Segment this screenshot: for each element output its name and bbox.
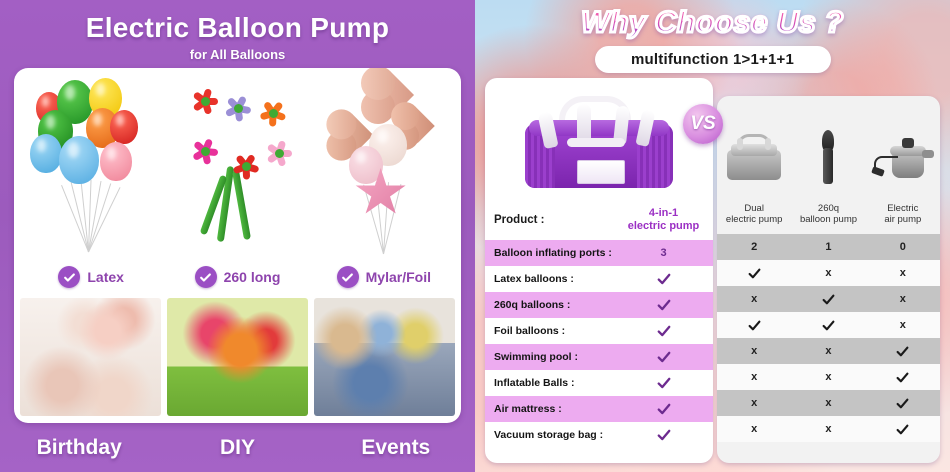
- balloon-pink: [100, 142, 132, 181]
- table-row: Balloon inflating ports : 3: [485, 240, 713, 266]
- rival-image-260q-hand-pump: [797, 126, 859, 188]
- feature-badge-mylar-foil: Mylar/Foil: [311, 266, 457, 288]
- table-row: x x: [717, 390, 940, 416]
- rival-value-x: x: [791, 423, 865, 435]
- table-row: 2 1 0: [717, 234, 940, 260]
- rival-value: 1: [791, 241, 865, 253]
- feature-value-check: [614, 428, 713, 442]
- rival-value-x: x: [717, 397, 791, 409]
- feature-name: Inflatable Balls :: [485, 377, 614, 389]
- rival-value-x: x: [717, 293, 791, 305]
- table-row: x x: [717, 260, 940, 286]
- feature-value-check: [614, 376, 713, 390]
- our-product-image: [485, 78, 713, 200]
- rival-value-x: x: [717, 423, 791, 435]
- rival-name-line2: electric pump: [717, 214, 791, 225]
- feature-name: Foil balloons :: [485, 325, 614, 337]
- rival-value-x: x: [866, 319, 940, 331]
- feature-value-check: [614, 324, 713, 338]
- feature-name: Latex balloons :: [485, 273, 614, 285]
- feature-value-check: [614, 298, 713, 312]
- table-row: Vacuum storage bag :: [485, 422, 713, 448]
- product-infographic: Electric Balloon Pump for All Balloons: [0, 0, 950, 472]
- rival-value-rows: 2 1 0 x x x x: [717, 234, 940, 442]
- feature-badge-260long: 260 long: [164, 266, 310, 288]
- right-panel: Why Choose Us ? multifunction 1>1+1+1 VS: [475, 0, 950, 472]
- check-icon: [657, 376, 671, 390]
- our-product-header-row: Product : 4-in-1 electric pump: [485, 200, 713, 240]
- rival-name-260q-balloon-pump: 260q balloon pump: [791, 203, 865, 226]
- check-icon: [657, 350, 671, 364]
- table-row: x x: [717, 286, 940, 312]
- our-product-name-line2: electric pump: [614, 220, 713, 233]
- use-case-birthday: Birthday: [0, 428, 158, 468]
- rival-value-check: [866, 371, 940, 384]
- vs-badge: VS: [683, 104, 723, 144]
- rival-name-line2: balloon pump: [791, 214, 865, 225]
- rival-value: 0: [866, 241, 940, 253]
- our-product-card: Product : 4-in-1 electric pump Balloon i…: [485, 78, 713, 463]
- use-case-label: Events: [361, 436, 430, 460]
- check-circle-icon: [58, 266, 80, 288]
- feature-value-check: [614, 402, 713, 416]
- rival-value: 2: [717, 241, 791, 253]
- rival-value-x: x: [866, 293, 940, 305]
- table-row: x x: [717, 364, 940, 390]
- use-case-label: DIY: [220, 436, 255, 460]
- our-product-name-line1: 4-in-1: [614, 207, 713, 220]
- multifunction-badge-label: multifunction 1>1+1+1: [631, 51, 794, 68]
- rival-image-dual-electric-pump: [723, 126, 785, 188]
- product-row-label: Product :: [485, 214, 614, 226]
- check-icon: [822, 293, 835, 306]
- rival-name-line1: Dual: [717, 203, 791, 214]
- rival-value-check: [866, 423, 940, 436]
- feature-badges-row: Latex 260 long Mylar/Foil: [14, 256, 461, 298]
- rival-products-card: Dual electric pump 260q balloon pump Ele…: [717, 96, 940, 463]
- rival-value-check: [866, 397, 940, 410]
- check-icon: [657, 324, 671, 338]
- table-row: x x: [717, 416, 940, 442]
- feature-value-check: [614, 350, 713, 364]
- feature-name: 260q balloons :: [485, 299, 614, 311]
- check-icon: [748, 319, 761, 332]
- feature-badge-label: Latex: [87, 269, 124, 285]
- rival-value-x: x: [717, 345, 791, 357]
- rival-value-x: x: [866, 267, 940, 279]
- check-icon: [822, 319, 835, 332]
- page-title: Electric Balloon Pump: [0, 12, 475, 44]
- photo-diy: [167, 298, 308, 416]
- flower-balloon-magenta: [184, 130, 226, 172]
- rival-name-line1: Electric: [866, 203, 940, 214]
- vs-label: VS: [690, 113, 715, 135]
- table-row: Foil balloons :: [485, 318, 713, 344]
- rival-image-electric-air-pump: [872, 126, 934, 188]
- hero-foil-balloons: [311, 74, 457, 256]
- check-icon: [657, 402, 671, 416]
- feature-name: Balloon inflating ports :: [485, 247, 614, 259]
- rival-value-x: x: [717, 371, 791, 383]
- rival-value-x: x: [791, 371, 865, 383]
- rival-header-row: Dual electric pump 260q balloon pump Ele…: [717, 194, 940, 234]
- table-row: Swimming pool :: [485, 344, 713, 370]
- check-icon: [657, 428, 671, 442]
- rival-value-check: [717, 319, 791, 332]
- feature-name: Vacuum storage bag :: [485, 429, 614, 441]
- rival-value-x: x: [791, 397, 865, 409]
- rival-value-check: [866, 345, 940, 358]
- check-icon: [748, 267, 761, 280]
- our-product-feature-rows: Balloon inflating ports : 3 Latex balloo…: [485, 240, 713, 448]
- rival-value-x: x: [791, 345, 865, 357]
- flower-balloon-pink: [262, 136, 296, 170]
- check-icon: [896, 423, 909, 436]
- table-row: Inflatable Balls :: [485, 370, 713, 396]
- feature-badge-latex: Latex: [18, 266, 164, 288]
- feature-value: 3: [614, 247, 713, 259]
- our-product-name: 4-in-1 electric pump: [614, 207, 713, 232]
- photo-events: [314, 298, 455, 416]
- hero-260q-flowers: [164, 74, 310, 256]
- table-row: x: [717, 312, 940, 338]
- check-icon: [896, 371, 909, 384]
- photo-birthday: [20, 298, 161, 416]
- check-icon: [657, 272, 671, 286]
- check-icon: [896, 397, 909, 410]
- hero-image-row: [14, 68, 461, 256]
- check-icon: [896, 345, 909, 358]
- balloon-blue-main: [59, 136, 99, 184]
- rival-name-electric-air-pump: Electric air pump: [866, 203, 940, 226]
- use-case-row: Birthday DIY Events: [0, 428, 475, 468]
- table-row: Latex balloons :: [485, 266, 713, 292]
- feature-badge-label: 260 long: [224, 269, 281, 285]
- feature-value-check: [614, 272, 713, 286]
- feature-name: Air mattress :: [485, 403, 614, 415]
- rival-name-line2: air pump: [866, 214, 940, 225]
- lifestyle-photo-row: [14, 298, 461, 416]
- rival-value-check: [717, 267, 791, 280]
- rival-product-images: [717, 96, 940, 194]
- table-row: x x: [717, 338, 940, 364]
- flower-balloon-purple: [218, 88, 258, 128]
- balloon-red-right: [110, 110, 138, 144]
- rival-value-check: [791, 293, 865, 306]
- flower-balloon-orange: [256, 96, 290, 130]
- why-choose-us-title: Why Choose Us ?: [475, 6, 950, 40]
- left-content-card: Latex 260 long Mylar/Foil: [14, 68, 461, 423]
- rival-name-dual-electric-pump: Dual electric pump: [717, 203, 791, 226]
- balloon-strings: [88, 180, 90, 252]
- check-circle-icon: [195, 266, 217, 288]
- balloon-blue-left: [30, 134, 62, 173]
- flower-balloon-red: [188, 84, 222, 118]
- rival-value-x: x: [791, 267, 865, 279]
- table-row: 260q balloons :: [485, 292, 713, 318]
- feature-badge-label: Mylar/Foil: [366, 269, 431, 285]
- check-circle-icon: [337, 266, 359, 288]
- multifunction-badge: multifunction 1>1+1+1: [595, 46, 831, 73]
- use-case-diy: DIY: [158, 428, 316, 468]
- check-icon: [657, 298, 671, 312]
- rival-value-check: [791, 319, 865, 332]
- use-case-label: Birthday: [37, 436, 122, 460]
- hero-latex-balloons: [18, 74, 164, 256]
- use-case-events: Events: [317, 428, 475, 468]
- rival-name-line1: 260q: [791, 203, 865, 214]
- comparison-table: VS: [475, 78, 950, 468]
- page-subtitle: for All Balloons: [0, 47, 475, 62]
- table-row: Air mattress :: [485, 396, 713, 422]
- feature-name: Swimming pool :: [485, 351, 614, 363]
- left-panel: Electric Balloon Pump for All Balloons: [0, 0, 475, 472]
